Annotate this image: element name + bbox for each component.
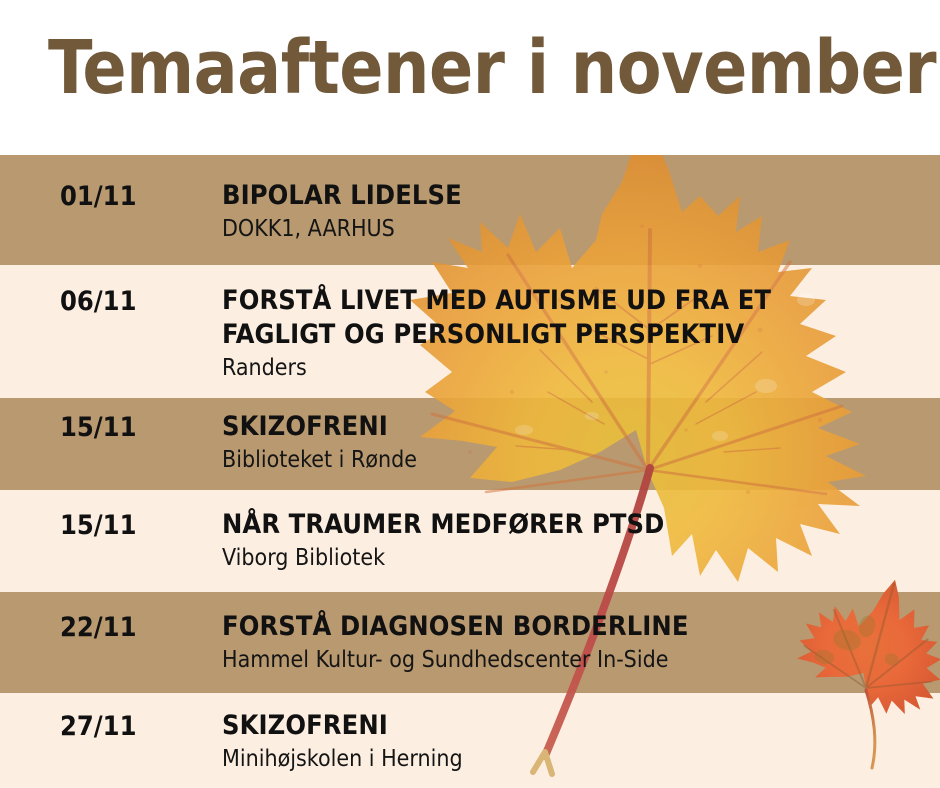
event-row: 27/11 SKIZOFRENI Minihøjskolen i Herning — [0, 693, 940, 788]
event-body: FORSTÅ DIAGNOSEN BORDERLINE Hammel Kultu… — [222, 610, 930, 675]
event-location: Biblioteket i Rønde — [222, 445, 930, 475]
event-row: 06/11 FORSTÅ LIVET MED AUTISME UD FRA ET… — [0, 265, 940, 398]
event-title: FORSTÅ DIAGNOSEN BORDERLINE — [222, 610, 930, 644]
event-date: 01/11 — [60, 181, 136, 213]
event-title: NÅR TRAUMER MEDFØRER PTSD — [222, 508, 930, 542]
event-date: 06/11 — [60, 286, 136, 318]
event-title-line-2: FAGLIGT OG PERSONLIGT PERSPEKTIV — [222, 318, 930, 352]
event-title: SKIZOFRENI — [222, 410, 930, 444]
event-body: SKIZOFRENI Minihøjskolen i Herning — [222, 709, 930, 774]
event-row: 01/11 BIPOLAR LIDELSE DOKK1, AARHUS — [0, 155, 940, 265]
event-date: 15/11 — [60, 412, 136, 444]
event-row: 15/11 SKIZOFRENI Biblioteket i Rønde — [0, 398, 940, 490]
event-body: BIPOLAR LIDELSE DOKK1, AARHUS — [222, 179, 930, 244]
event-title-line-1: FORSTÅ LIVET MED AUTISME UD FRA ET — [222, 285, 771, 316]
event-title: SKIZOFRENI — [222, 709, 930, 743]
poster-header: Temaaftener i november — [0, 0, 940, 155]
event-location: Randers — [222, 353, 930, 383]
event-date: 27/11 — [60, 711, 136, 743]
event-row: 15/11 NÅR TRAUMER MEDFØRER PTSD Viborg B… — [0, 490, 940, 592]
poster-canvas: Temaaftener i november 01/11 BIPOLAR LID… — [0, 0, 940, 788]
event-location: Viborg Bibliotek — [222, 543, 930, 573]
event-date: 15/11 — [60, 510, 136, 542]
event-location: Hammel Kultur- og Sundhedscenter In-Side — [222, 645, 930, 675]
event-row: 22/11 FORSTÅ DIAGNOSEN BORDERLINE Hammel… — [0, 592, 940, 693]
event-body: NÅR TRAUMER MEDFØRER PTSD Viborg Bibliot… — [222, 508, 930, 573]
event-location: Minihøjskolen i Herning — [222, 744, 930, 774]
page-title: Temaaftener i november — [48, 26, 936, 110]
event-title: FORSTÅ LIVET MED AUTISME UD FRA ET FAGLI… — [222, 284, 930, 352]
event-date: 22/11 — [60, 612, 136, 644]
event-body: SKIZOFRENI Biblioteket i Rønde — [222, 410, 930, 475]
event-location: DOKK1, AARHUS — [222, 214, 930, 244]
event-body: FORSTÅ LIVET MED AUTISME UD FRA ET FAGLI… — [222, 284, 930, 383]
event-title: BIPOLAR LIDELSE — [222, 179, 930, 213]
